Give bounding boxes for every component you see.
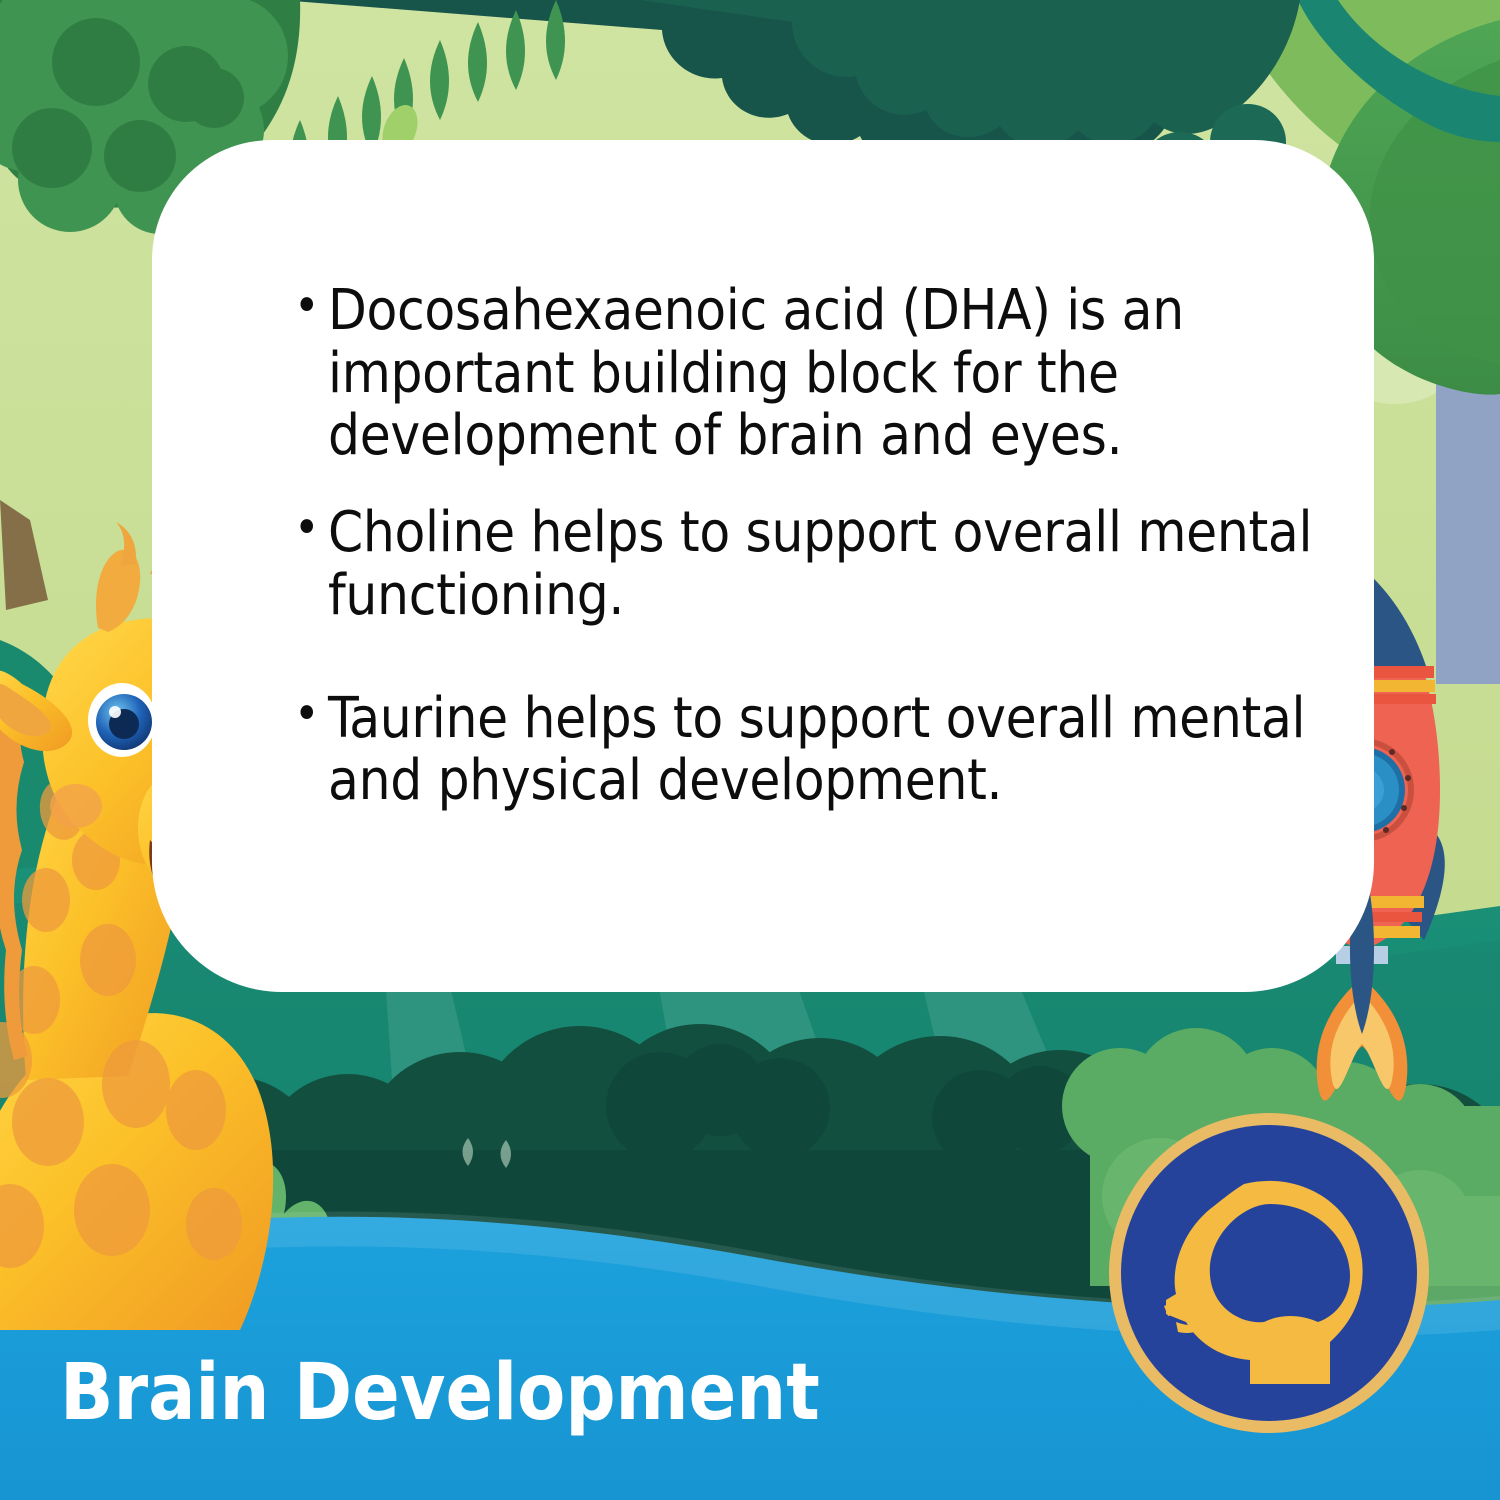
bullet-text: Choline helps to support overall mental …: [328, 502, 1334, 627]
page-title: Brain Development: [60, 1348, 820, 1438]
bullet-text: Docosahexaenoic acid (DHA) is an importa…: [328, 280, 1334, 468]
list-item: • Docosahexaenoic acid (DHA) is an impor…: [294, 280, 1334, 468]
list-item: • Taurine helps to support overall menta…: [294, 688, 1334, 813]
brain-head-icon: [1104, 1108, 1434, 1438]
bullet-marker-icon: •: [294, 688, 328, 742]
bullet-marker-icon: •: [294, 502, 328, 556]
slide-canvas: • Docosahexaenoic acid (DHA) is an impor…: [0, 0, 1500, 1500]
bullet-list: • Docosahexaenoic acid (DHA) is an impor…: [294, 280, 1334, 813]
list-item: • Choline helps to support overall menta…: [294, 502, 1334, 627]
content-card: • Docosahexaenoic acid (DHA) is an impor…: [152, 140, 1374, 992]
bullet-marker-icon: •: [294, 280, 328, 334]
bullet-text: Taurine helps to support overall mental …: [328, 688, 1334, 813]
